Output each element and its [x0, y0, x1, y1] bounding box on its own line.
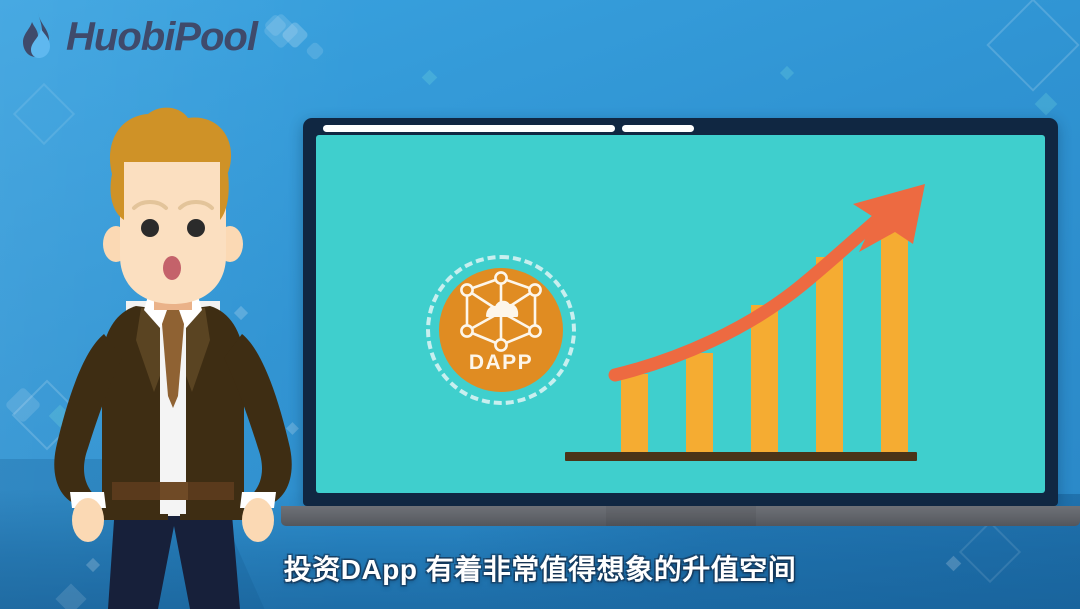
character-belt-buckle — [160, 482, 188, 500]
brand-logo[interactable]: HuobiPool — [18, 12, 309, 62]
character-eye-left — [141, 219, 159, 237]
laptop-top-bars — [323, 125, 694, 132]
businessman-character — [8, 96, 328, 609]
laptop-lid: DAPP — [303, 118, 1058, 506]
logo-decor-diamonds — [265, 15, 309, 59]
laptop-top-bar-short — [622, 125, 694, 132]
decor-diamond-icon — [263, 13, 287, 37]
laptop: DAPP — [303, 118, 1058, 526]
character-hand-left — [72, 498, 104, 542]
laptop-base — [281, 506, 1080, 526]
dapp-badge[interactable]: DAPP — [426, 255, 576, 405]
huobi-flame-icon — [18, 12, 58, 62]
character-hand-right — [242, 498, 274, 542]
growth-bar-chart — [611, 170, 966, 470]
dapp-label: DAPP — [426, 351, 576, 375]
character-face — [120, 158, 226, 304]
character-mouth — [163, 256, 181, 280]
laptop-screen: DAPP — [316, 135, 1045, 493]
laptop-trackpad-notch — [606, 506, 756, 526]
character-eye-right — [187, 219, 205, 237]
trend-arrow-icon — [607, 170, 962, 470]
brand-name: HuobiPool — [66, 17, 257, 57]
scene-stage: HuobiPool — [0, 0, 1080, 609]
laptop-top-bar-long — [323, 125, 615, 132]
decor-diamond-icon — [281, 21, 309, 49]
dapp-network-icon — [452, 271, 550, 355]
